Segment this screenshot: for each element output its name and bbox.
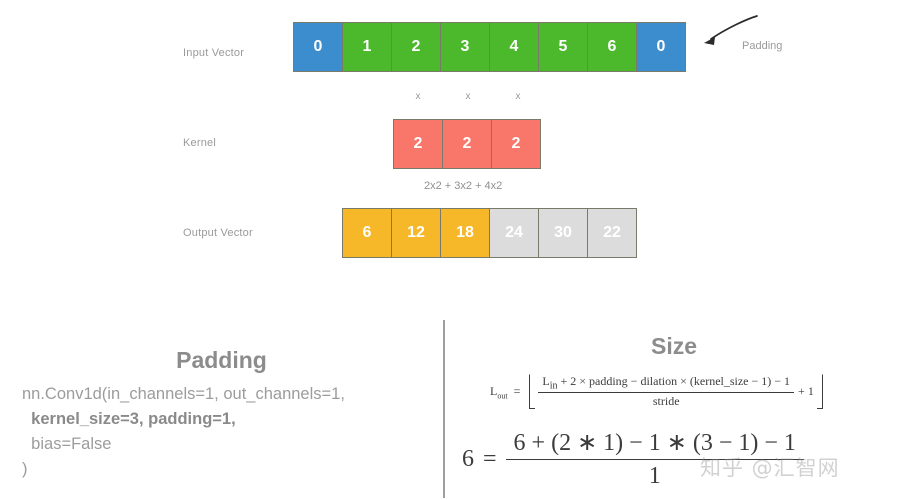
padding-annotation-label: Padding bbox=[742, 40, 782, 52]
input-cell: 0 bbox=[293, 22, 343, 72]
code-line-3: bias=False bbox=[31, 435, 111, 453]
size-panel-title: Size bbox=[448, 333, 900, 360]
output-vector-strip: 6 12 18 24 30 22 bbox=[342, 208, 637, 258]
example-equals-sign: = bbox=[483, 446, 497, 473]
output-cell: 22 bbox=[587, 208, 637, 258]
code-line-4: ) bbox=[22, 460, 28, 478]
output-cell: 12 bbox=[391, 208, 441, 258]
floor-bracket-left-icon bbox=[529, 374, 535, 409]
input-vector-label: Input Vector bbox=[183, 47, 244, 59]
formula-denominator: stride bbox=[538, 392, 794, 409]
input-cell: 3 bbox=[440, 22, 490, 72]
kernel-cell: 2 bbox=[491, 119, 541, 169]
input-cell: 6 bbox=[587, 22, 637, 72]
formula-fraction: Lin + 2 × padding − dilation × (kernel_s… bbox=[538, 374, 794, 409]
output-cell: 24 bbox=[489, 208, 539, 258]
input-cell: 4 bbox=[489, 22, 539, 72]
formula-numerator: Lin + 2 × padding − dilation × (kernel_s… bbox=[538, 374, 794, 392]
formula-lhs: Lout bbox=[490, 384, 508, 400]
example-result: 6 bbox=[462, 446, 474, 473]
kernel-label: Kernel bbox=[183, 137, 216, 149]
kernel-cell: 2 bbox=[442, 119, 492, 169]
size-formula-general: Lout = Lin + 2 × padding − dilation × (k… bbox=[490, 374, 826, 409]
output-cell: 30 bbox=[538, 208, 588, 258]
input-cell: 1 bbox=[342, 22, 392, 72]
input-cell: 2 bbox=[391, 22, 441, 72]
input-cell: 5 bbox=[538, 22, 588, 72]
padding-panel-title: Padding bbox=[0, 347, 443, 374]
input-vector-strip: 0 1 2 3 4 5 6 0 bbox=[293, 22, 686, 72]
panel-divider bbox=[443, 320, 445, 498]
formula-equals-sign: = bbox=[514, 384, 521, 399]
watermark: 知乎 @汇智网 bbox=[700, 452, 840, 482]
formula-tail: + 1 bbox=[798, 384, 814, 399]
multiply-symbol-row: x x x bbox=[393, 91, 543, 102]
output-cell: 18 bbox=[440, 208, 490, 258]
output-cell: 6 bbox=[342, 208, 392, 258]
floor-bracket-right-icon bbox=[817, 374, 823, 409]
padding-code-block: nn.Conv1d(in_channels=1, out_channels=1,… bbox=[22, 382, 432, 482]
kernel-strip: 2 2 2 bbox=[393, 119, 541, 169]
multiply-symbol: x bbox=[493, 91, 543, 102]
multiply-symbol: x bbox=[443, 91, 493, 102]
output-vector-label: Output Vector bbox=[183, 227, 253, 239]
sum-expression: 2x2 + 3x2 + 4x2 bbox=[424, 180, 502, 192]
code-line-1: nn.Conv1d(in_channels=1, out_channels=1, bbox=[22, 385, 345, 403]
multiply-symbol: x bbox=[393, 91, 443, 102]
code-line-2: kernel_size=3, padding=1, bbox=[31, 410, 236, 428]
kernel-cell: 2 bbox=[393, 119, 443, 169]
input-cell: 0 bbox=[636, 22, 686, 72]
